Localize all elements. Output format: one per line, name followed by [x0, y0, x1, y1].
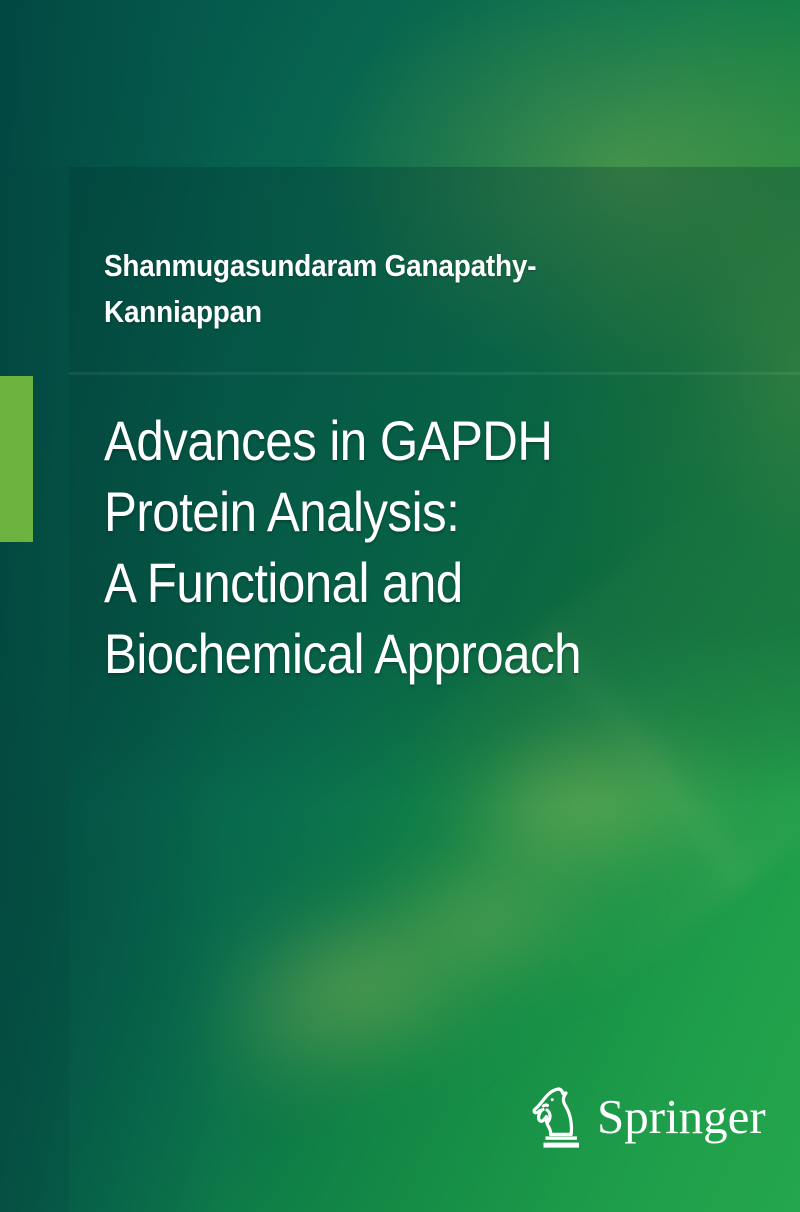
book-title-line-3: A Functional and	[104, 547, 720, 618]
publisher-name: Springer	[597, 1092, 766, 1141]
book-title-line-1: Advances in GAPDH	[104, 405, 720, 476]
accent-color-block	[0, 376, 33, 542]
springer-knight-icon	[527, 1083, 583, 1153]
author-name: Shanmugasundaram Ganapathy- Kanniappan	[104, 243, 662, 335]
author-name-line-1: Shanmugasundaram Ganapathy-	[104, 248, 536, 283]
left-margin-shade	[0, 167, 69, 1212]
publisher-logo: Springer	[527, 1080, 737, 1156]
book-title-line-4: Biochemical Approach	[104, 618, 720, 689]
author-title-divider	[69, 372, 800, 375]
book-cover: Shanmugasundaram Ganapathy- Kanniappan A…	[0, 0, 800, 1212]
author-name-line-2: Kanniappan	[104, 294, 262, 329]
book-title-line-2: Protein Analysis:	[104, 476, 720, 547]
book-title: Advances in GAPDH Protein Analysis: A Fu…	[104, 405, 720, 689]
